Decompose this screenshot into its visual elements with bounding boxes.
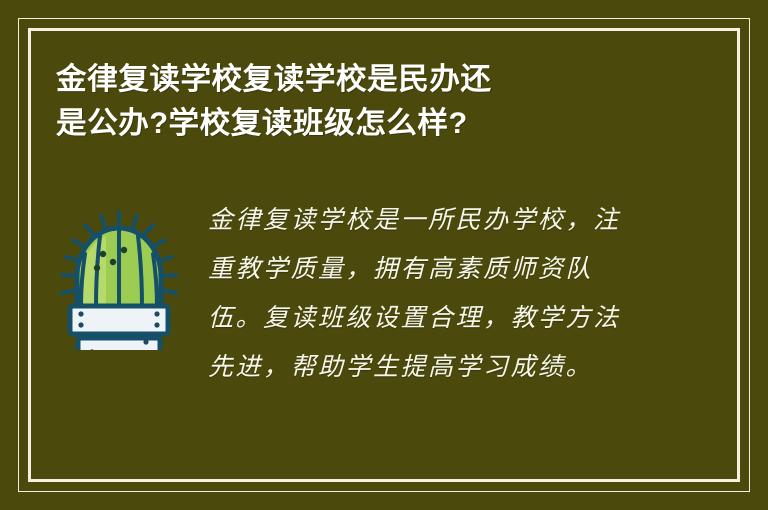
cactus-icon [56, 196, 186, 350]
title-line-1: 金律复读学校复读学校是民办还 [56, 58, 668, 102]
description-paragraph: 金律复读学校是一所民办学校，注重教学质量，拥有高素质师资队伍。复读班级设置合理，… [186, 196, 628, 392]
pot-lower-band [78, 338, 160, 350]
content-row: 金律复读学校是一所民办学校，注重教学质量，拥有高素质师资队伍。复读班级设置合理，… [56, 196, 712, 392]
cactus-illustration-svg [56, 210, 182, 350]
page-title: 金律复读学校复读学校是民办还 是公办?学校复读班级怎么样? [56, 58, 656, 146]
poster-canvas: 金律复读学校复读学校是民办还 是公办?学校复读班级怎么样? [0, 0, 768, 510]
title-line-2: 是公办?学校复读班级怎么样? [56, 102, 668, 146]
pot-rim-band [70, 306, 168, 334]
